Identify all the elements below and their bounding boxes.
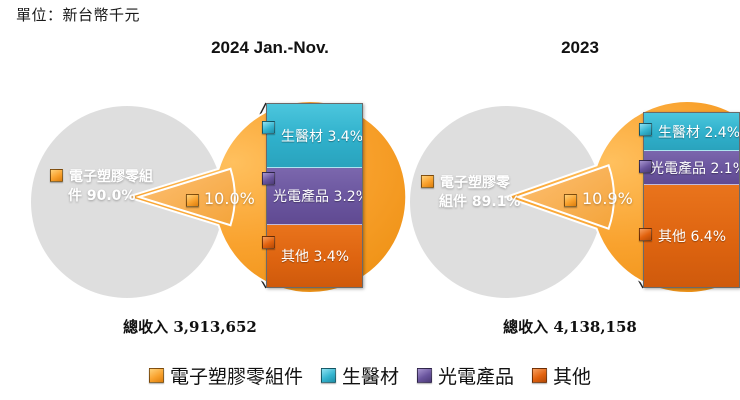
square-swatch-icon	[532, 368, 547, 383]
bullet-purple-icon	[639, 160, 652, 173]
breakdown-bar-right[interactable]: 生醫材 2.4% 光電產品 2.1% 其他 6.4%	[643, 112, 740, 288]
bullet-orange-icon	[421, 175, 434, 188]
bullet-teal-icon	[639, 123, 652, 136]
legend-item-optoelectronics[interactable]: 光電產品	[417, 362, 514, 389]
pie-label-other-right: 10.9%	[582, 189, 633, 208]
bar-segment-biomedical-right[interactable]: 生醫材 2.4%	[644, 113, 739, 151]
legend-item-other[interactable]: 其他	[532, 362, 591, 389]
chart-legend: 電子塑膠零組件 生醫材 光電產品 其他	[0, 362, 740, 389]
legend-item-biomedical[interactable]: 生醫材	[321, 362, 399, 389]
bar-segment-other-right[interactable]: 其他 6.4%	[644, 185, 739, 287]
pie-label-main-right: 電子塑膠零 組件 89.1%	[421, 174, 520, 212]
legend-item-plastic-parts[interactable]: 電子塑膠零組件	[149, 362, 303, 389]
square-swatch-icon	[417, 368, 432, 383]
total-revenue-right: 總收入 4,138,158	[400, 316, 740, 337]
pie-chart-right[interactable]: 電子塑膠零 組件 89.1% 10.9%	[399, 90, 629, 305]
chart-panel-right: 電子塑膠零 組件 89.1% 10.9% 生醫材 2.4% 光電產品 2.1% …	[0, 0, 740, 400]
bar-segment-optoelectronics-right[interactable]: 光電產品 2.1%	[644, 151, 739, 185]
bullet-darkred-icon	[639, 228, 652, 241]
square-swatch-icon	[149, 368, 164, 383]
bullet-orange-icon	[564, 194, 577, 207]
square-swatch-icon	[321, 368, 336, 383]
